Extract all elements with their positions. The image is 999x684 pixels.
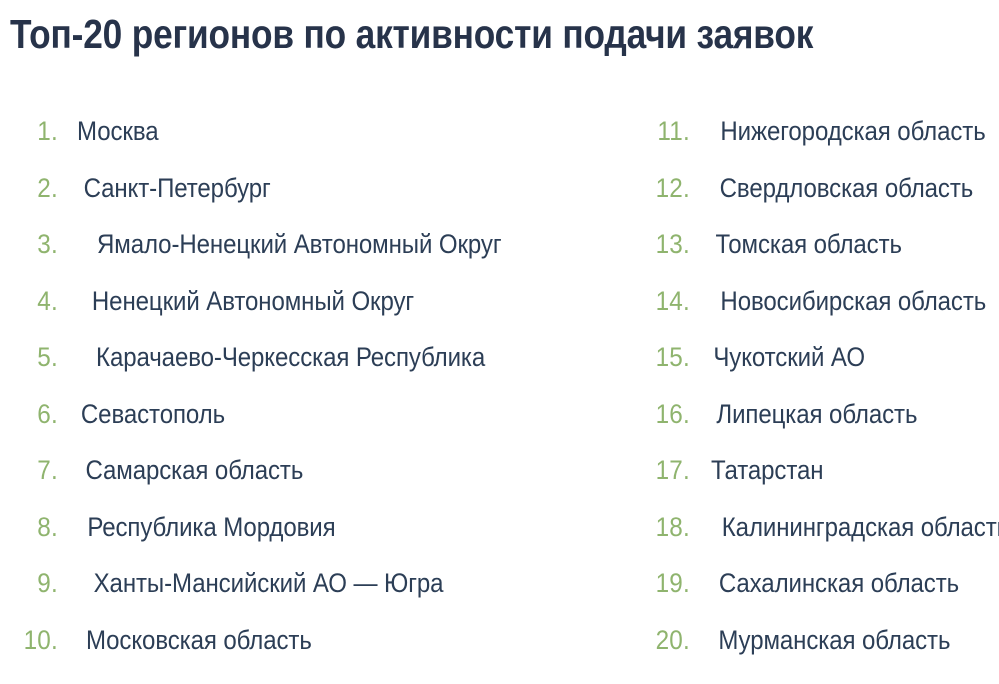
rank-number: 18. [652, 512, 690, 543]
rank-number: 15. [652, 342, 690, 373]
rank-number: 8. [20, 512, 58, 543]
ranking-column-left: 1. Москва 2. Санкт-Петербург 3. Ямало-Не… [0, 116, 640, 684]
rank-number: 17. [652, 455, 690, 486]
region-name: Мурманская область [718, 625, 950, 656]
rank-number: 2. [20, 173, 58, 204]
rank-number: 4. [20, 286, 58, 317]
rank-number: 16. [652, 399, 690, 430]
region-name: Самарская область [85, 455, 303, 486]
list-item: 2. Санкт-Петербург [18, 173, 640, 230]
region-name: Москва [77, 116, 159, 147]
rank-number: 1. [20, 116, 58, 147]
list-item: 15. Чукотский АО [650, 342, 999, 399]
region-name: Ямало-Ненецкий Автономный Округ [97, 229, 502, 260]
rank-number: 7. [20, 455, 58, 486]
rank-number: 5. [20, 342, 58, 373]
list-item: 12. Свердловская область [650, 173, 999, 230]
ranking-list: 1. Москва 2. Санкт-Петербург 3. Ямало-Не… [0, 116, 999, 684]
slide-root: Топ-20 регионов по активности подачи зая… [0, 0, 999, 684]
region-name: Свердловская область [720, 173, 974, 204]
list-item: 10. Московская область [18, 625, 640, 682]
list-item: 5. Карачаево-Черкесская Республика [18, 342, 640, 399]
rank-number: 9. [20, 568, 58, 599]
list-item: 6. Севастополь [18, 399, 640, 456]
list-item: 19. Сахалинская область [650, 568, 999, 625]
list-item: 18. Калининградская область [650, 512, 999, 569]
region-name: Санкт-Петербург [84, 173, 271, 204]
rank-number: 3. [20, 229, 58, 260]
rank-number: 20. [652, 625, 690, 656]
list-item: 20. Мурманская область [650, 625, 999, 682]
rank-number: 13. [652, 229, 690, 260]
list-item: 7. Самарская область [18, 455, 640, 512]
region-name: Московская область [86, 625, 312, 656]
region-name: Татарстан [711, 455, 823, 486]
rank-number: 10. [20, 625, 58, 656]
list-item: 1. Москва [18, 116, 640, 173]
region-name: Ханты-Мансийский АО — Югра [94, 568, 444, 599]
region-name: Ненецкий Автономный Округ [92, 286, 414, 317]
region-name: Карачаево-Черкесская Республика [96, 342, 485, 373]
list-item: 17. Татарстан [650, 455, 999, 512]
rank-number: 12. [652, 173, 690, 204]
region-name: Республика Мордовия [87, 512, 335, 543]
rank-number: 14. [652, 286, 690, 317]
list-item: 11. Нижегородская область [650, 116, 999, 173]
rank-number: 11. [652, 116, 690, 147]
region-name: Чукотский АО [713, 342, 865, 373]
ranking-column-right: 11. Нижегородская область 12. Свердловск… [640, 116, 999, 684]
region-name: Нижегородская область [720, 116, 985, 147]
list-item: 16. Липецкая область [650, 399, 999, 456]
region-name: Новосибирская область [720, 286, 986, 317]
list-item: 3. Ямало-Ненецкий Автономный Округ [18, 229, 640, 286]
list-item: 14. Новосибирская область [650, 286, 999, 343]
region-name: Севастополь [81, 399, 225, 430]
region-name: Калининградская область [722, 512, 999, 543]
list-item: 4. Ненецкий Автономный Округ [18, 286, 640, 343]
list-item: 8. Республика Мордовия [18, 512, 640, 569]
rank-number: 19. [652, 568, 690, 599]
region-name: Сахалинская область [719, 568, 959, 599]
list-item: 9. Ханты-Мансийский АО — Югра [18, 568, 640, 625]
region-name: Томская область [716, 229, 902, 260]
region-name: Липецкая область [716, 399, 917, 430]
rank-number: 6. [20, 399, 58, 430]
page-title: Топ-20 регионов по активности подачи зая… [10, 6, 836, 62]
list-item: 13. Томская область [650, 229, 999, 286]
